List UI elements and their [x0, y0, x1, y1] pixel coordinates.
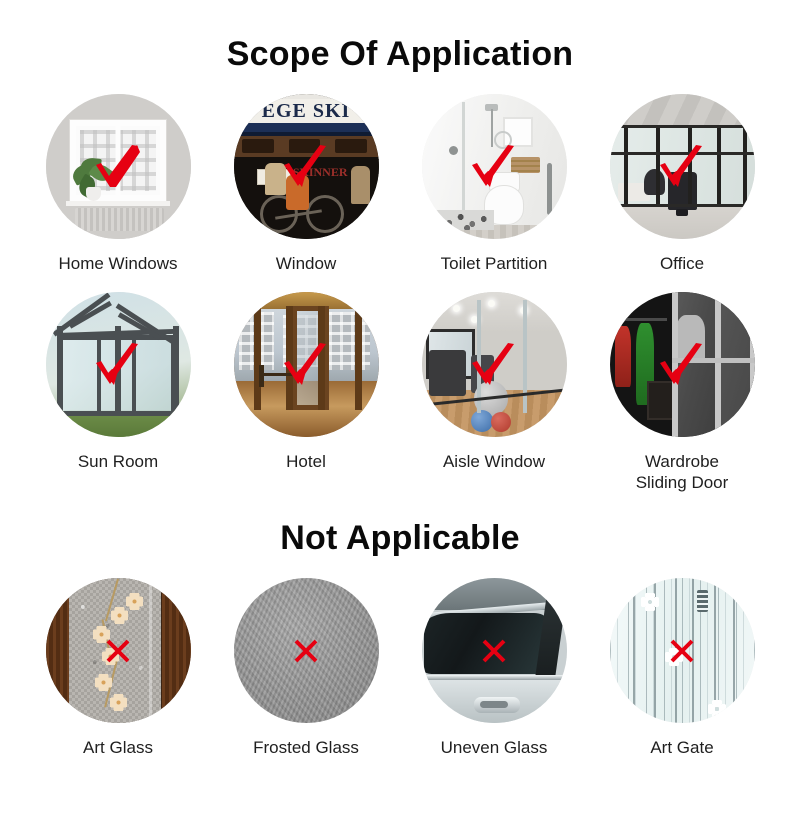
- thumbnail-toilet-partition: [422, 94, 567, 239]
- photo-uneven-glass: [422, 578, 567, 723]
- photo-wardrobe-sliding-door: [610, 292, 755, 437]
- item-frosted-glass[interactable]: Frosted Glass: [223, 578, 389, 758]
- item-label: Office: [660, 253, 704, 274]
- thumbnail-art-gate: [610, 578, 755, 723]
- thumbnail-office: [610, 94, 755, 239]
- thumbnail-frosted-glass: [234, 578, 379, 723]
- item-label: Home Windows: [58, 253, 177, 274]
- item-uneven-glass[interactable]: Uneven Glass: [411, 578, 577, 758]
- thumbnail-uneven-glass: [422, 578, 567, 723]
- scope-section-heading: Scope Of Application: [0, 23, 800, 71]
- thumbnail-sun-room: [46, 292, 191, 437]
- scope-row-1: Home Windows EGE SKI DEN SKINNER: [0, 94, 800, 274]
- photo-hotel: [234, 292, 379, 437]
- scope-row-2: Sun Room: [0, 292, 800, 493]
- item-label: Art Glass: [83, 737, 153, 758]
- item-toilet-partition[interactable]: Toilet Partition: [411, 94, 577, 274]
- shop-sign-text: EGE SKI: [234, 99, 379, 124]
- item-hotel[interactable]: Hotel: [223, 292, 389, 472]
- item-label: Uneven Glass: [441, 737, 548, 758]
- photo-office: [610, 94, 755, 239]
- item-label: Sun Room: [78, 451, 158, 472]
- item-art-gate[interactable]: Art Gate: [599, 578, 765, 758]
- item-office[interactable]: Office: [599, 94, 765, 274]
- not-applicable-section-heading: Not Applicable: [0, 515, 800, 555]
- item-home-windows[interactable]: Home Windows: [35, 94, 201, 274]
- photo-art-gate: [610, 578, 755, 723]
- photo-aisle-window: [422, 292, 567, 437]
- item-window[interactable]: EGE SKI DEN SKINNER: [223, 94, 389, 274]
- thumbnail-art-glass: [46, 578, 191, 723]
- item-label: Frosted Glass: [253, 737, 359, 758]
- item-label: Aisle Window: [443, 451, 545, 472]
- thumbnail-hotel: [234, 292, 379, 437]
- item-label: Window: [276, 253, 336, 274]
- thumbnail-wardrobe-sliding-door: [610, 292, 755, 437]
- photo-window: EGE SKI DEN SKINNER: [234, 94, 379, 239]
- application-scope-infographic: Scope Of Application: [0, 23, 800, 823]
- not-applicable-row-1: Art Glass Frosted Glass: [0, 578, 800, 758]
- item-label: Hotel: [286, 451, 326, 472]
- item-wardrobe-sliding-door[interactable]: Wardrobe Sliding Door: [599, 292, 765, 493]
- item-label: Art Gate: [650, 737, 713, 758]
- thumbnail-aisle-window: [422, 292, 567, 437]
- photo-frosted-glass: [234, 578, 379, 723]
- thumbnail-window: EGE SKI DEN SKINNER: [234, 94, 379, 239]
- item-art-glass[interactable]: Art Glass: [35, 578, 201, 758]
- item-label: Toilet Partition: [441, 253, 548, 274]
- thumbnail-home-windows: [46, 94, 191, 239]
- item-sun-room[interactable]: Sun Room: [35, 292, 201, 472]
- item-aisle-window[interactable]: Aisle Window: [411, 292, 577, 472]
- photo-art-glass: [46, 578, 191, 723]
- photo-toilet-partition: [422, 94, 567, 239]
- photo-home-windows: [46, 94, 191, 239]
- item-label: Wardrobe Sliding Door: [636, 451, 729, 493]
- photo-sun-room: [46, 292, 191, 437]
